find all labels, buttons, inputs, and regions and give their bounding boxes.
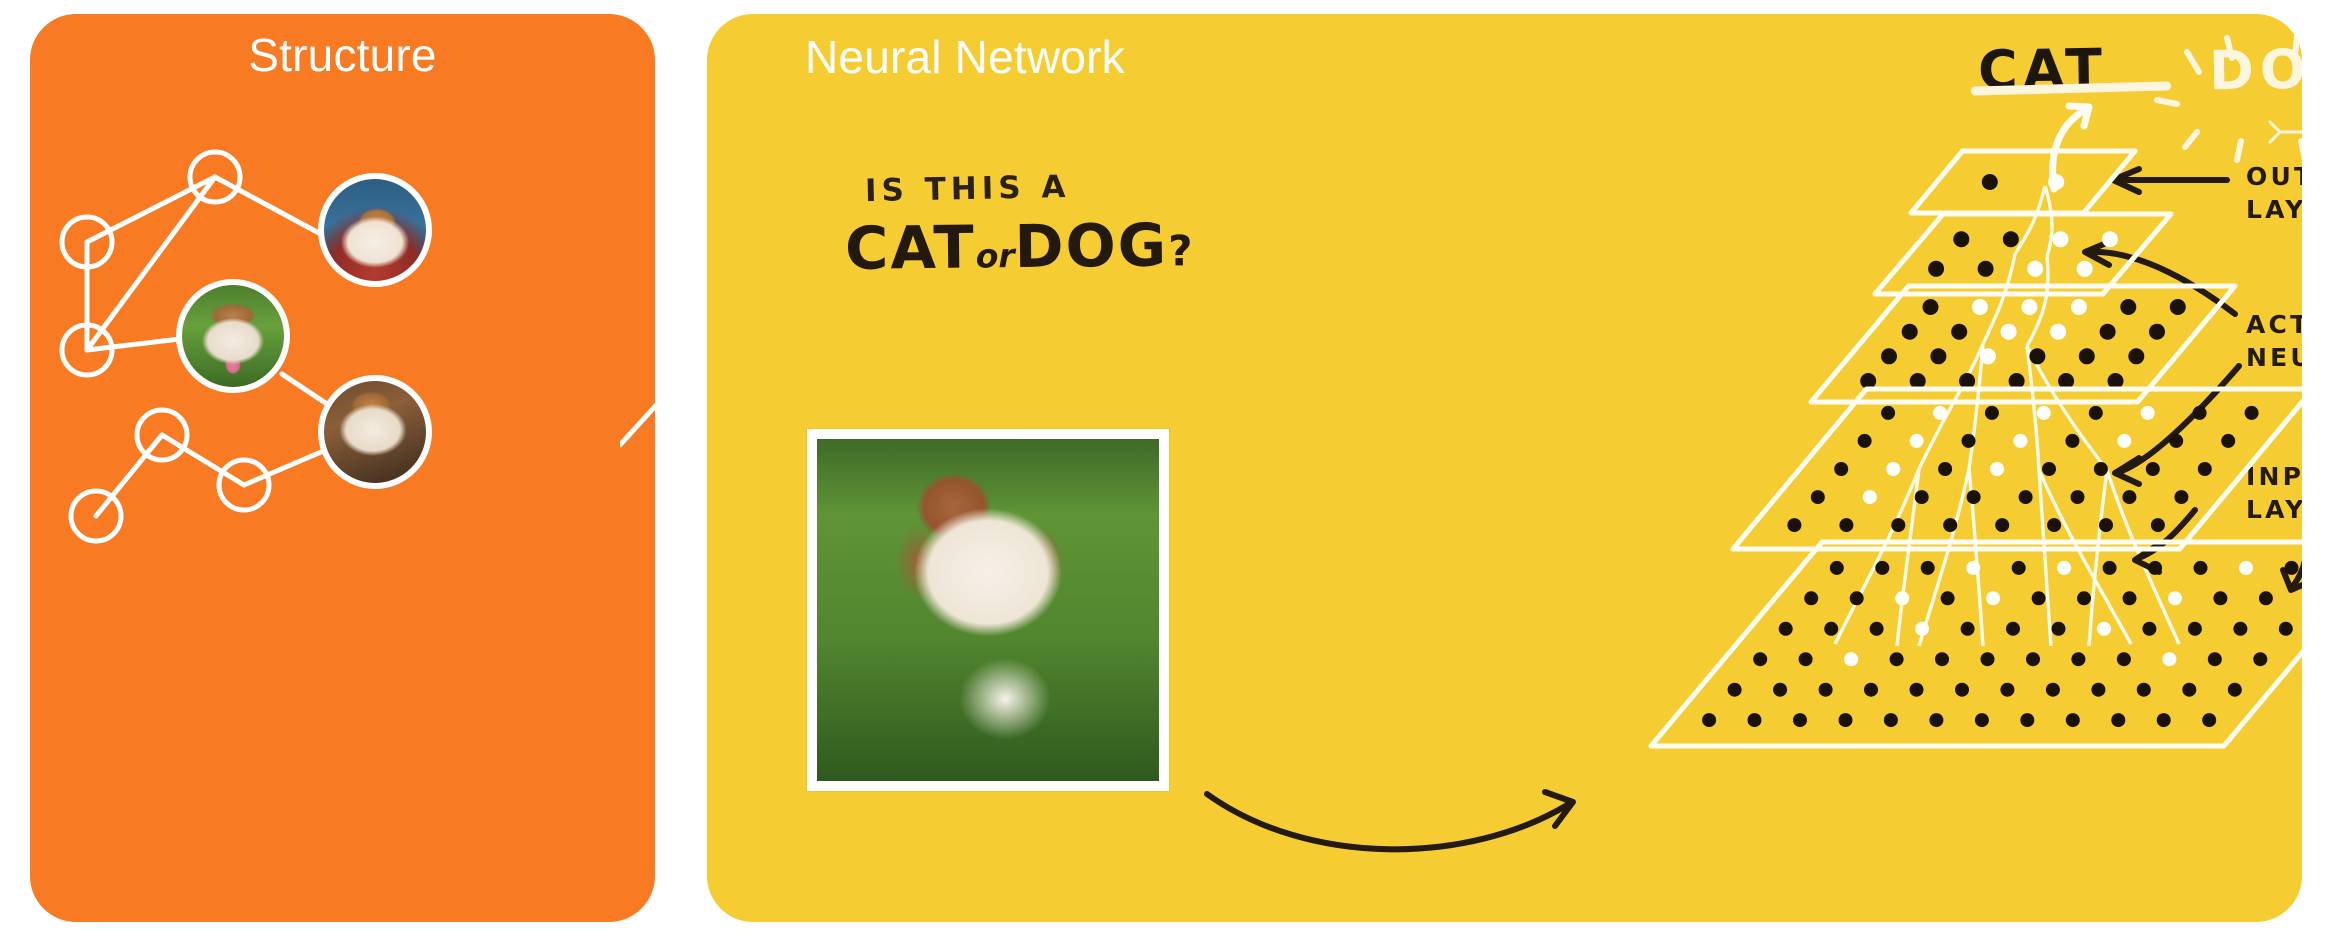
- neuron-active[interactable]: [2117, 434, 2131, 448]
- graph-photo-node-bulldog-grass[interactable]: [176, 279, 290, 393]
- neuron-inactive[interactable]: [2099, 518, 2113, 532]
- neuron-inactive[interactable]: [2065, 434, 2079, 448]
- bulldog-studio-photo: [324, 179, 426, 281]
- neuron-inactive[interactable]: [2111, 713, 2125, 727]
- network-layer-output-layer[interactable]: [1911, 151, 2135, 213]
- neuron-inactive[interactable]: [2091, 683, 2105, 697]
- annotation-activated-line1: ACTIVATED: [2246, 308, 2302, 341]
- question-line-2: CATorDOG?: [845, 212, 1195, 282]
- network-connections: [1835, 186, 2179, 646]
- neuron-inactive[interactable]: [2094, 462, 2108, 476]
- network-layer-hidden-layer-2[interactable]: [1811, 286, 2235, 402]
- neuron-inactive[interactable]: [2221, 434, 2235, 448]
- neuron-inactive[interactable]: [1811, 490, 1825, 504]
- neuron-inactive[interactable]: [1941, 591, 1955, 605]
- bulldog-puppy-photo: [324, 381, 426, 483]
- neuron-inactive[interactable]: [2142, 622, 2156, 636]
- infographic-canvas: Structure: [0, 0, 2330, 936]
- neuron-inactive[interactable]: [2188, 622, 2202, 636]
- neuron-inactive[interactable]: [1834, 462, 1848, 476]
- neuron-inactive[interactable]: [1967, 490, 1981, 504]
- neuron-inactive[interactable]: [1928, 261, 1944, 277]
- neuron-active[interactable]: [2027, 261, 2043, 277]
- neuron-active[interactable]: [2071, 299, 2087, 315]
- neuron-inactive[interactable]: [2122, 490, 2136, 504]
- annotation-output-line2: LAYER: [2246, 193, 2302, 226]
- neural-network-panel: Neural Network IS THIS A CATorDOG? CAT D…: [707, 14, 2302, 922]
- neuron-inactive[interactable]: [2012, 561, 2026, 575]
- neuron-active[interactable]: [1886, 462, 1900, 476]
- neuron-inactive[interactable]: [2026, 652, 2040, 666]
- neuron-inactive[interactable]: [2079, 348, 2095, 364]
- neuron-inactive[interactable]: [2071, 490, 2085, 504]
- neuron-inactive[interactable]: [1930, 348, 1946, 364]
- neuron-inactive[interactable]: [2151, 518, 2165, 532]
- neuron-inactive[interactable]: [2071, 652, 2085, 666]
- neuron-active[interactable]: [1990, 462, 2004, 476]
- neuron-active[interactable]: [2077, 261, 2093, 277]
- annotation-arrows: [1207, 169, 2302, 849]
- neuron-active[interactable]: [2013, 434, 2027, 448]
- graph-photo-node-bulldog-puppy[interactable]: [318, 375, 432, 489]
- neuron-inactive[interactable]: [1902, 324, 1918, 340]
- neuron-inactive[interactable]: [2285, 561, 2299, 575]
- neuron-active[interactable]: [1895, 591, 1909, 605]
- neuron-inactive[interactable]: [2146, 462, 2160, 476]
- neuron-active[interactable]: [2021, 299, 2037, 315]
- neuron-inactive[interactable]: [2089, 406, 2103, 420]
- neuron-inactive[interactable]: [2213, 591, 2227, 605]
- neuron-active[interactable]: [1980, 348, 1996, 364]
- neuron-active[interactable]: [2168, 591, 2182, 605]
- neuron-inactive[interactable]: [1923, 299, 1939, 315]
- neuron-inactive[interactable]: [1915, 490, 1929, 504]
- neuron-inactive[interactable]: [2058, 373, 2074, 389]
- neuron-inactive[interactable]: [1702, 713, 1716, 727]
- neuron-inactive[interactable]: [1935, 652, 1949, 666]
- neuron-inactive[interactable]: [1975, 713, 1989, 727]
- neuron-inactive[interactable]: [2029, 348, 2045, 364]
- neuron-inactive[interactable]: [1929, 713, 1943, 727]
- neuron-inactive[interactable]: [1982, 174, 1998, 190]
- neuron-inactive[interactable]: [1824, 622, 1838, 636]
- neuron-inactive[interactable]: [1881, 406, 1895, 420]
- neuron-inactive[interactable]: [2148, 561, 2162, 575]
- layer-plane: [1733, 389, 2302, 549]
- neuron-inactive[interactable]: [2193, 406, 2207, 420]
- neuron-inactive[interactable]: [1961, 622, 1975, 636]
- neuron-inactive[interactable]: [1890, 652, 1904, 666]
- neuron-inactive[interactable]: [1787, 518, 1801, 532]
- layer-plane: [1911, 151, 2135, 213]
- question-cat: CAT: [845, 212, 976, 282]
- neuron-inactive[interactable]: [1959, 373, 1975, 389]
- neuron-inactive[interactable]: [1793, 713, 1807, 727]
- bulldog-grass-photo: [182, 285, 284, 387]
- network-layer-input-layer[interactable]: [1651, 542, 2302, 746]
- neuron-inactive[interactable]: [2253, 652, 2267, 666]
- neuron-inactive[interactable]: [2108, 373, 2124, 389]
- neuron-inactive[interactable]: [1858, 434, 1872, 448]
- neuron-inactive[interactable]: [2006, 622, 2020, 636]
- neuron-inactive[interactable]: [1910, 373, 1926, 389]
- neuron-inactive[interactable]: [1804, 591, 1818, 605]
- neuron-inactive[interactable]: [1839, 518, 1853, 532]
- annotation-input-line2: LAYER: [2246, 493, 2302, 526]
- neuron-inactive[interactable]: [1753, 652, 1767, 666]
- question-mark: ?: [1168, 226, 1195, 275]
- neuron-inactive[interactable]: [2046, 683, 2060, 697]
- neuron-inactive[interactable]: [1938, 462, 1952, 476]
- network-layers: [1651, 151, 2302, 746]
- neuron-active[interactable]: [1933, 406, 1947, 420]
- verdict-chosen-dog: DOG: [2208, 37, 2302, 103]
- neuron-inactive[interactable]: [1799, 652, 1813, 666]
- annotation-activated-neurons: ACTIVATED NEURONS: [2246, 308, 2302, 374]
- neuron-inactive[interactable]: [1884, 713, 1898, 727]
- neuron-active[interactable]: [2048, 174, 2064, 190]
- neuron-active[interactable]: [2097, 622, 2111, 636]
- neuron-active[interactable]: [1863, 490, 1877, 504]
- neuron-inactive[interactable]: [2128, 348, 2144, 364]
- graph-photo-node-bulldog-studio[interactable]: [318, 173, 432, 287]
- neuron-inactive[interactable]: [2000, 683, 2014, 697]
- neuron-active[interactable]: [2050, 324, 2066, 340]
- question-conjunction: or: [976, 236, 1015, 275]
- annotation-input-layer: INPUT LAYER: [2246, 460, 2302, 526]
- bulldog-puppy-input-photo: [817, 439, 1159, 781]
- neuron-inactive[interactable]: [1830, 561, 1844, 575]
- network-layer-hidden-layer-3[interactable]: [1875, 214, 2171, 294]
- neuron-inactive[interactable]: [2103, 561, 2117, 575]
- network-layer-hidden-layer-1[interactable]: [1733, 389, 2302, 549]
- neuron-inactive[interactable]: [2194, 561, 2208, 575]
- neuron-inactive[interactable]: [2019, 490, 2033, 504]
- neuron-inactive[interactable]: [1943, 518, 1957, 532]
- neuron-active[interactable]: [2001, 324, 2017, 340]
- neuron-active[interactable]: [2141, 406, 2155, 420]
- neuron-active[interactable]: [2057, 561, 2071, 575]
- neuron-inactive[interactable]: [1779, 622, 1793, 636]
- neuron-inactive[interactable]: [2117, 652, 2131, 666]
- neuron-inactive[interactable]: [1748, 713, 1762, 727]
- neuron-inactive[interactable]: [2009, 373, 2025, 389]
- neuron-inactive[interactable]: [2032, 591, 2046, 605]
- neuron-inactive[interactable]: [2100, 324, 2116, 340]
- neuron-active[interactable]: [1972, 299, 1988, 315]
- annotation-activated-line2: NEURONS: [2246, 341, 2302, 374]
- annotation-output-layer: OUTPUT LAYER: [2246, 160, 2302, 226]
- neuron-inactive[interactable]: [2137, 683, 2151, 697]
- neuron-inactive[interactable]: [2169, 434, 2183, 448]
- neuron-inactive[interactable]: [2066, 713, 2080, 727]
- neuron-inactive[interactable]: [2174, 490, 2188, 504]
- neuron-inactive[interactable]: [2157, 713, 2171, 727]
- input-photo-card[interactable]: [807, 429, 1169, 791]
- neuron-inactive[interactable]: [1870, 622, 1884, 636]
- output-to-verdict-arrow: [2053, 106, 2089, 189]
- neuron-inactive[interactable]: [2003, 231, 2019, 247]
- neuron-inactive[interactable]: [1875, 561, 1889, 575]
- neuron-inactive[interactable]: [2120, 299, 2136, 315]
- neuron-inactive[interactable]: [1978, 261, 1994, 277]
- neuron-inactive[interactable]: [1910, 683, 1924, 697]
- neuron-inactive[interactable]: [2245, 406, 2259, 420]
- neuron-inactive[interactable]: [1981, 652, 1995, 666]
- neuron-inactive[interactable]: [1864, 683, 1878, 697]
- neuron-active[interactable]: [1915, 622, 1929, 636]
- neuron-inactive[interactable]: [1881, 348, 1897, 364]
- neuron-active[interactable]: [1844, 652, 1858, 666]
- neuron-inactive[interactable]: [2047, 518, 2061, 532]
- neuron-active[interactable]: [2162, 652, 2176, 666]
- neuron-active[interactable]: [2037, 406, 2051, 420]
- neuron-inactive[interactable]: [2279, 622, 2293, 636]
- neuron-inactive[interactable]: [2077, 591, 2091, 605]
- neuron-inactive[interactable]: [1728, 683, 1742, 697]
- neuron-inactive[interactable]: [1921, 561, 1935, 575]
- annotation-input-line1: INPUT: [2246, 460, 2302, 493]
- neuron-inactive[interactable]: [1955, 683, 1969, 697]
- neuron-inactive[interactable]: [2202, 713, 2216, 727]
- neuron-inactive[interactable]: [1891, 518, 1905, 532]
- question-line-1: IS THIS A: [865, 170, 1071, 209]
- neuron-inactive[interactable]: [1962, 434, 1976, 448]
- structure-panel: Structure: [30, 14, 655, 922]
- neuron-inactive[interactable]: [1773, 683, 1787, 697]
- layer-plane: [1875, 214, 2171, 294]
- neuron-inactive[interactable]: [2228, 683, 2242, 697]
- neuron-active[interactable]: [2239, 561, 2253, 575]
- neuron-inactive[interactable]: [1951, 324, 1967, 340]
- neuron-inactive[interactable]: [2042, 462, 2056, 476]
- neuron-inactive[interactable]: [2052, 622, 2066, 636]
- question-dog: DOG: [1014, 210, 1168, 281]
- neuron-inactive[interactable]: [1985, 406, 1999, 420]
- neuron-inactive[interactable]: [2020, 713, 2034, 727]
- neuron-inactive[interactable]: [1953, 231, 1969, 247]
- neuron-active[interactable]: [1966, 561, 1980, 575]
- neuron-inactive[interactable]: [2208, 652, 2222, 666]
- neuron-active[interactable]: [1986, 591, 2000, 605]
- neuron-inactive[interactable]: [2233, 622, 2247, 636]
- neuron-active[interactable]: [2052, 231, 2068, 247]
- neuron-inactive[interactable]: [1860, 373, 1876, 389]
- neuron-inactive[interactable]: [2259, 591, 2273, 605]
- layer-plane: [1651, 542, 2302, 746]
- neuron-inactive[interactable]: [2182, 683, 2196, 697]
- neuron-inactive[interactable]: [2123, 591, 2137, 605]
- neuron-active[interactable]: [2102, 231, 2118, 247]
- neuron-inactive[interactable]: [2149, 324, 2165, 340]
- neuron-inactive[interactable]: [1995, 518, 2009, 532]
- layer-plane: [1811, 286, 2235, 402]
- neuron-inactive[interactable]: [2198, 462, 2212, 476]
- neuron-inactive[interactable]: [1819, 683, 1833, 697]
- page-title-neural-network: Neural Network: [805, 30, 1125, 84]
- annotation-output-line1: OUTPUT: [2246, 160, 2302, 193]
- neuron-active[interactable]: [1910, 434, 1924, 448]
- neuron-inactive[interactable]: [1839, 713, 1853, 727]
- neuron-inactive[interactable]: [1850, 591, 1864, 605]
- neuron-inactive[interactable]: [2170, 299, 2186, 315]
